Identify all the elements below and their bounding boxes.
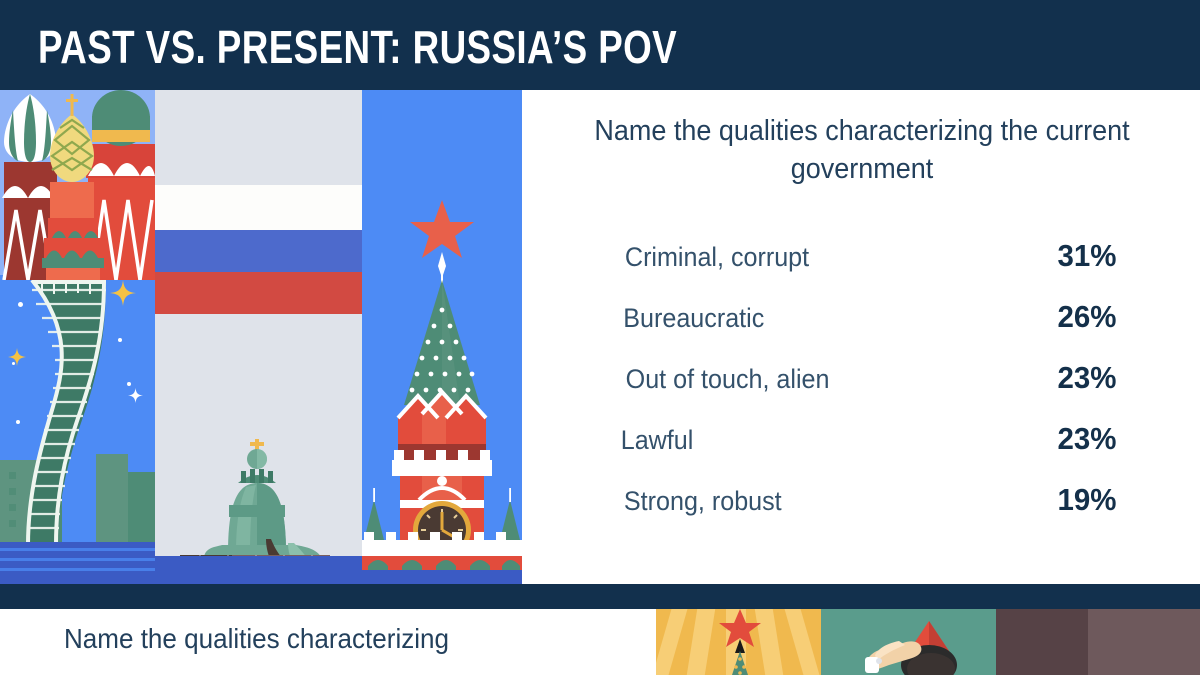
illustration-panel-st-basils (0, 90, 155, 584)
result-label: Bureaucratic (623, 303, 764, 334)
slide: PAST VS. PRESENT: RUSSIA’S POV (0, 0, 1200, 675)
ground-strip-middle (155, 556, 362, 584)
table-row: Lawful 23% (618, 421, 1118, 482)
illustration-panel-spasskaya (362, 90, 522, 584)
evolution-tower-icon (22, 280, 116, 545)
result-value: 26% (1058, 299, 1117, 335)
table-row: Strong, robust 19% (618, 482, 1118, 543)
result-value: 19% (1058, 482, 1117, 518)
slide-header: PAST VS. PRESENT: RUSSIA’S POV (0, 0, 1200, 90)
illustration-collage (0, 90, 522, 584)
results-list: Criminal, corrupt 31% Bureaucratic 26% O… (618, 238, 1118, 543)
flag-stripe-red (155, 272, 362, 314)
flag-stripe-blue (155, 230, 362, 272)
table-row: Criminal, corrupt 31% (618, 238, 1118, 299)
preview-panel-dark-1 (996, 609, 1088, 675)
result-label: Criminal, corrupt (625, 242, 809, 273)
result-label: Lawful (621, 425, 694, 456)
preview-panel-dark-2 (1088, 609, 1200, 675)
result-value: 23% (1058, 360, 1117, 396)
st-basils-cathedral-icon (0, 90, 155, 280)
result-value: 31% (1058, 238, 1117, 274)
preview-panel-sunburst (656, 609, 821, 675)
star-dot-icon (118, 338, 122, 342)
flag-stripe-white (155, 185, 362, 230)
sparkle-icon (128, 388, 143, 403)
saluting-pioneer-icon (849, 611, 996, 675)
question-text: Name the qualities characterizing the cu… (574, 112, 1151, 189)
star-dot-icon (127, 382, 131, 386)
preview-panel-salute (821, 609, 996, 675)
table-row: Bureaucratic 26% (618, 299, 1118, 360)
page-title: PAST VS. PRESENT: RUSSIA’S POV (38, 20, 677, 74)
table-row: Out of touch, alien 23% (618, 360, 1118, 421)
next-slide-preview[interactable]: Name the qualities characterizing (0, 609, 1200, 675)
ground-strip-right (362, 570, 522, 584)
content-panel: Name the qualities characterizing the cu… (522, 90, 1200, 584)
result-label: Out of touch, alien (626, 364, 830, 395)
result-value: 23% (1058, 421, 1117, 457)
ground-strip-left (0, 542, 155, 584)
spasskaya-tower-icon (362, 200, 522, 584)
preview-title: Name the qualities characterizing (64, 623, 449, 655)
red-star-spire-icon (712, 609, 768, 675)
result-label: Strong, robust (624, 486, 782, 517)
slide-divider-band (0, 584, 1200, 609)
